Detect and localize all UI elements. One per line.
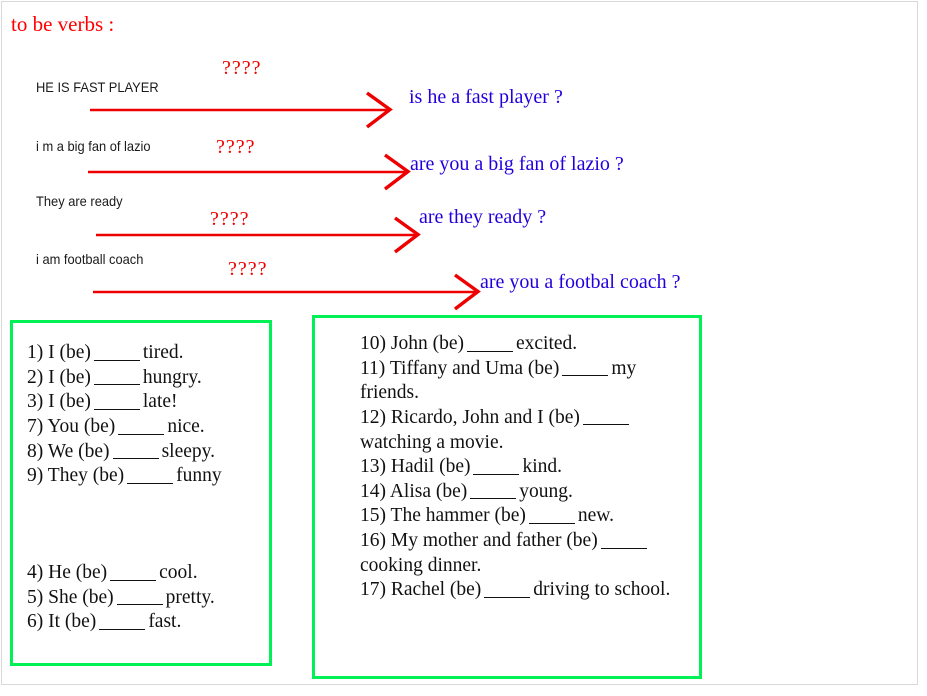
item-number: 9)	[27, 466, 43, 487]
item-number: 2)	[27, 367, 43, 388]
item-prompt: My mother and father (be)	[391, 530, 598, 551]
item-prompt: I (be)	[48, 392, 91, 413]
item-prompt: Ricardo, John and I (be)	[391, 407, 580, 428]
item-prompt: We (be)	[48, 441, 110, 462]
exercise-item: 3) I (be)late!	[27, 390, 222, 415]
transform-arrow-2	[88, 152, 408, 182]
item-number: 12)	[360, 407, 386, 428]
answer-blank[interactable]	[562, 357, 608, 377]
answer-blank[interactable]	[467, 332, 513, 352]
exercise-group-b: 4) He (be)cool. 5) She (be)pretty. 6) It…	[27, 561, 215, 635]
item-number: 3)	[27, 392, 43, 413]
source-sentence-3: They are ready	[36, 193, 123, 209]
exercise-item: 5) She (be)pretty.	[27, 586, 215, 611]
exercise-item: 8) We (be)sleepy.	[27, 440, 222, 465]
answer-blank[interactable]	[117, 586, 163, 606]
answer-blank[interactable]	[110, 561, 156, 581]
item-number: 5)	[27, 587, 43, 608]
transform-arrow-1	[90, 90, 390, 120]
item-tail: cool.	[159, 562, 197, 583]
question-marks-1: ????	[222, 57, 262, 79]
worksheet-page: to be verbs : HE IS FAST PLAYER ???? is …	[0, 0, 927, 696]
item-prompt: He (be)	[48, 562, 107, 583]
item-prompt: They (be)	[48, 466, 124, 487]
item-tail: kind.	[522, 456, 562, 477]
item-tail: fast.	[148, 612, 181, 633]
item-number: 10)	[360, 333, 386, 354]
exercise-item: 14) Alisa (be)young.	[360, 480, 700, 505]
item-tail: excited.	[516, 333, 577, 354]
exercise-item: 2) I (be)hungry.	[27, 366, 222, 391]
answer-blank[interactable]	[127, 464, 173, 484]
item-prompt: It (be)	[48, 612, 96, 633]
transform-arrow-4	[93, 272, 478, 302]
item-prompt: You (be)	[47, 416, 115, 437]
answer-sentence-4: are you a footbal coach ?	[480, 271, 680, 294]
item-prompt: Tiffany and Uma (be)	[390, 358, 560, 379]
item-number: 1)	[27, 342, 43, 363]
answer-blank[interactable]	[94, 390, 140, 410]
item-number: 15)	[360, 506, 386, 527]
answer-sentence-2: are you a big fan of lazio ?	[410, 153, 624, 176]
answer-sentence-3: are they ready ?	[419, 206, 546, 229]
exercise-box-right: 10) John (be)excited. 11) Tiffany and Um…	[312, 315, 702, 679]
answer-blank[interactable]	[529, 504, 575, 524]
item-tail: cooking dinner.	[360, 555, 481, 576]
item-tail: nice.	[167, 416, 204, 437]
exercise-item: 16) My mother and father (be)cooking din…	[360, 529, 700, 578]
item-number: 13)	[360, 456, 386, 477]
item-tail: new.	[578, 506, 614, 527]
answer-blank[interactable]	[113, 440, 159, 460]
item-number: 6)	[27, 612, 43, 633]
item-tail: late!	[143, 392, 178, 413]
item-number: 16)	[360, 530, 386, 551]
item-tail: driving to school.	[533, 580, 670, 601]
item-number: 17)	[360, 580, 386, 601]
answer-blank[interactable]	[94, 366, 140, 386]
item-prompt: Alisa (be)	[390, 481, 467, 502]
exercise-item: 6) It (be)fast.	[27, 610, 215, 635]
answer-blank[interactable]	[473, 455, 519, 475]
answer-blank[interactable]	[99, 610, 145, 630]
item-tail: watching a movie.	[360, 432, 504, 453]
exercise-item: 4) He (be)cool.	[27, 561, 215, 586]
exercise-group-right: 10) John (be)excited. 11) Tiffany and Um…	[360, 332, 700, 603]
exercise-item: 11) Tiffany and Uma (be)my friends.	[360, 357, 700, 406]
page-title: to be verbs :	[11, 12, 114, 36]
exercise-box-left: 1) I (be)tired. 2) I (be)hungry. 3) I (b…	[10, 320, 272, 666]
item-tail: funny	[176, 466, 222, 487]
item-prompt: I (be)	[48, 342, 91, 363]
item-prompt: I (be)	[48, 367, 91, 388]
item-prompt: The hammer (be)	[391, 506, 526, 527]
transform-arrow-3	[96, 215, 418, 245]
item-number: 8)	[27, 441, 43, 462]
exercise-item: 13) Hadil (be)kind.	[360, 455, 700, 480]
item-tail: young.	[519, 481, 573, 502]
answer-blank[interactable]	[484, 578, 530, 598]
exercise-item: 9) They (be)funny	[27, 464, 222, 489]
item-prompt: John (be)	[391, 333, 464, 354]
item-prompt: Hadil (be)	[391, 456, 471, 477]
answer-blank[interactable]	[470, 480, 516, 500]
item-tail: hungry.	[143, 367, 202, 388]
exercise-group-a: 1) I (be)tired. 2) I (be)hungry. 3) I (b…	[27, 341, 222, 489]
exercise-item: 15) The hammer (be)new.	[360, 504, 700, 529]
item-number: 4)	[27, 562, 43, 583]
answer-blank[interactable]	[601, 529, 647, 549]
exercise-item: 12) Ricardo, John and I (be)watching a m…	[360, 406, 700, 455]
answer-blank[interactable]	[94, 341, 140, 361]
item-number: 14)	[360, 481, 386, 502]
answer-sentence-1: is he a fast player ?	[409, 86, 563, 109]
answer-blank[interactable]	[118, 415, 164, 435]
item-tail: sleepy.	[162, 441, 215, 462]
exercise-item: 1) I (be)tired.	[27, 341, 222, 366]
exercise-item: 7) You (be)nice.	[27, 415, 222, 440]
exercise-item: 10) John (be)excited.	[360, 332, 700, 357]
item-tail: tired.	[143, 342, 184, 363]
exercise-item: 17) Rachel (be)driving to school.	[360, 578, 700, 603]
item-number: 7)	[27, 416, 43, 437]
source-sentence-4: i am football coach	[36, 251, 143, 267]
item-number: 11)	[360, 358, 385, 379]
answer-blank[interactable]	[583, 406, 629, 426]
item-prompt: Rachel (be)	[391, 580, 481, 601]
item-prompt: She (be)	[48, 587, 114, 608]
item-tail: pretty.	[166, 587, 215, 608]
